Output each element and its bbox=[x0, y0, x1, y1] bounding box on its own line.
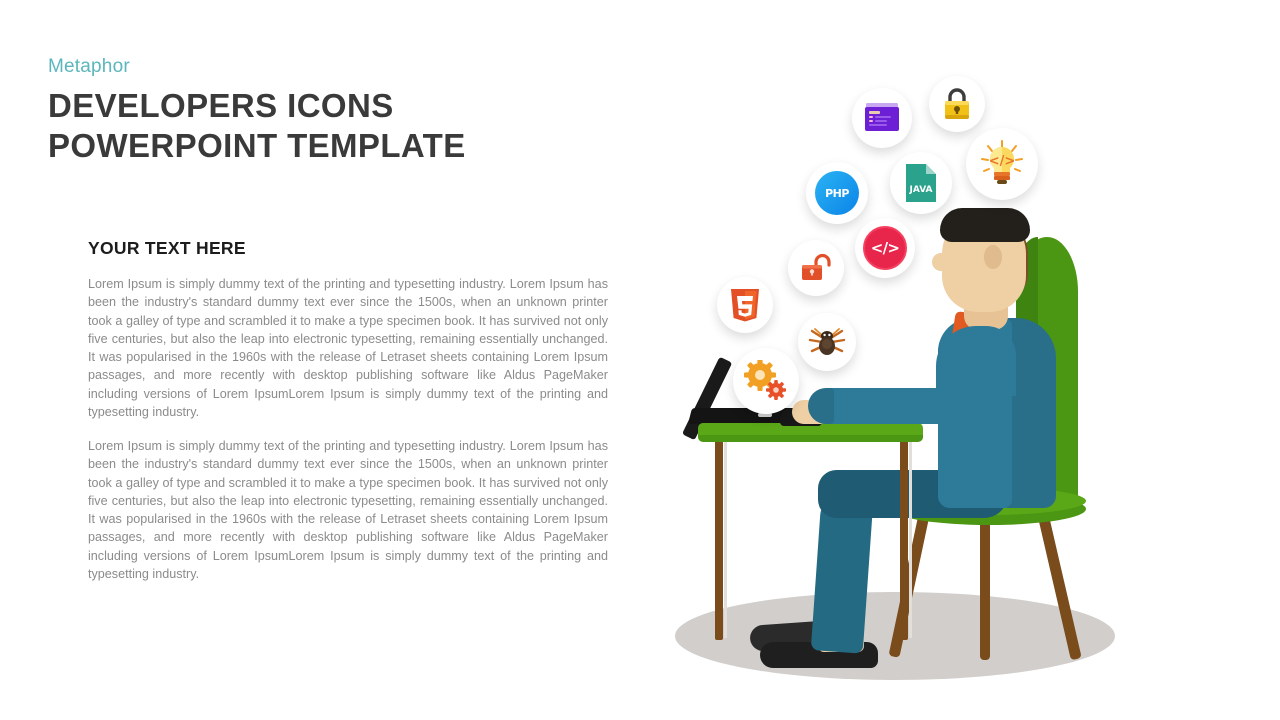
desk-leg-left-highlight bbox=[724, 440, 727, 638]
page-title: DEVELOPERS ICONS POWERPOINT TEMPLATE bbox=[48, 86, 628, 167]
gears-icon bbox=[744, 360, 788, 402]
desk-leg-right-highlight bbox=[909, 440, 912, 638]
padlock-locked-icon bbox=[942, 87, 972, 121]
code-window-icon bbox=[864, 102, 900, 134]
badge-html5[interactable] bbox=[717, 277, 773, 333]
badge-lock[interactable] bbox=[929, 76, 985, 132]
code-brackets-icon: </> bbox=[863, 226, 907, 270]
body-text-block: YOUR TEXT HERE Lorem Ipsum is simply dum… bbox=[88, 238, 608, 599]
svg-text:</>: </> bbox=[989, 154, 1016, 169]
badge-gears[interactable] bbox=[733, 348, 799, 414]
section-subheading: YOUR TEXT HERE bbox=[88, 238, 608, 259]
shoulder bbox=[936, 326, 1016, 396]
badge-php[interactable]: PHP bbox=[806, 162, 868, 224]
nose bbox=[932, 253, 950, 271]
badge-code-brackets[interactable]: </> bbox=[855, 218, 915, 278]
badge-lightbulb[interactable]: </> bbox=[966, 128, 1038, 200]
slide-canvas: Metaphor DEVELOPERS ICONS POWERPOINT TEM… bbox=[0, 0, 1280, 720]
badge-unlock[interactable] bbox=[788, 240, 844, 296]
java-file-icon: JAVA bbox=[904, 162, 938, 204]
desk-leg-right bbox=[900, 440, 908, 640]
php-label: PHP bbox=[825, 188, 849, 199]
hair-top bbox=[940, 208, 1030, 242]
eyebrow-label: Metaphor bbox=[48, 56, 628, 78]
ear-inner bbox=[984, 245, 1002, 269]
desk-leg-left bbox=[715, 440, 723, 640]
code-brackets-label: </> bbox=[871, 241, 900, 256]
header-block: Metaphor DEVELOPERS ICONS POWERPOINT TEM… bbox=[48, 56, 628, 167]
desk-surface-shade bbox=[698, 435, 923, 442]
lower-leg bbox=[811, 498, 873, 653]
php-icon: PHP bbox=[815, 171, 859, 215]
badge-code-window[interactable] bbox=[852, 88, 912, 148]
chair-leg-middle bbox=[980, 512, 990, 660]
svg-text:JAVA: JAVA bbox=[908, 185, 932, 195]
html5-shield-icon bbox=[729, 287, 761, 323]
developer-illustration: </> PHP JAVA </> bbox=[620, 0, 1280, 720]
padlock-open-icon bbox=[800, 253, 832, 283]
body-paragraph-1: Lorem Ipsum is simply dummy text of the … bbox=[88, 275, 608, 421]
badge-bug[interactable] bbox=[798, 313, 856, 371]
lightbulb-code-icon: </> bbox=[977, 139, 1027, 189]
badge-java[interactable]: JAVA bbox=[890, 152, 952, 214]
bug-icon bbox=[808, 325, 846, 359]
body-paragraph-2: Lorem Ipsum is simply dummy text of the … bbox=[88, 437, 608, 583]
